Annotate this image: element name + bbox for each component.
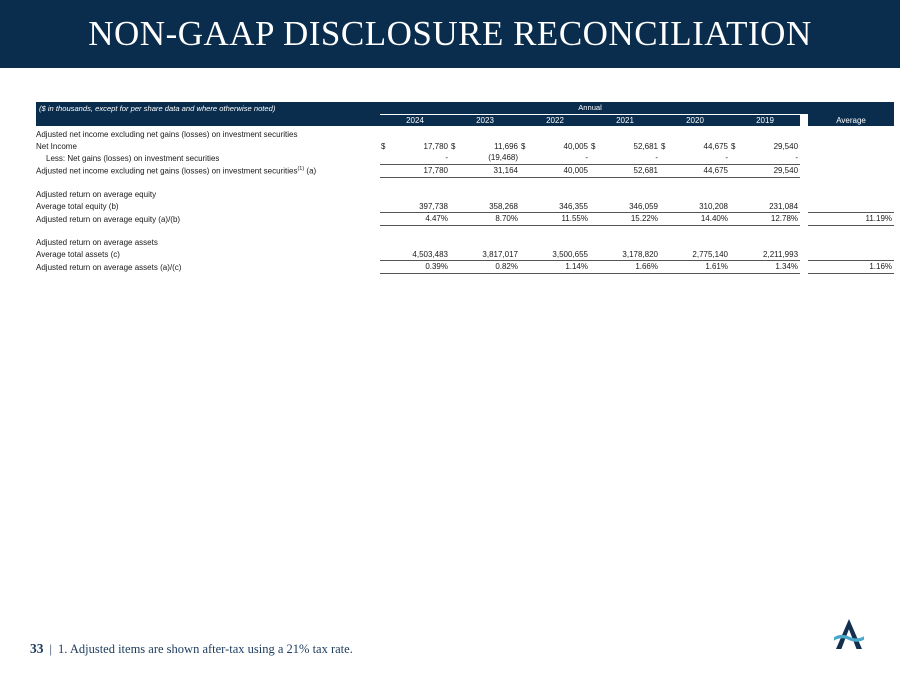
average-total-assets-2023: 3,817,017 xyxy=(462,249,520,261)
less-net-gains-2020: - xyxy=(672,152,730,164)
adjusted-net-income-2021: 52,681 xyxy=(602,164,660,177)
less-net-gains-2019: - xyxy=(742,152,800,164)
page-title: NON-GAAP DISCLOSURE RECONCILIATION xyxy=(0,14,900,54)
less-net-gains-2023: (19,468) xyxy=(462,152,520,164)
section-title-adjusted-roa: Adjusted return on average assets xyxy=(36,237,380,249)
table-row: Adjusted return on average assets (a)/(c… xyxy=(36,261,894,274)
row-label-text: Adjusted net income excluding net gains … xyxy=(36,167,297,176)
adjusted-roe-2023: 8.70% xyxy=(462,213,520,226)
cell-spacer xyxy=(520,152,532,164)
cell-spacer xyxy=(590,152,602,164)
adjusted-roa-2021: 1.66% xyxy=(602,261,660,274)
currency-symbol-2023: $ xyxy=(450,141,462,153)
section-spacer xyxy=(36,177,894,189)
cell-spacer xyxy=(380,213,392,226)
adjusted-roe-2022: 11.55% xyxy=(532,213,590,226)
row-gap xyxy=(800,261,808,274)
column-header-2023: 2023 xyxy=(450,114,520,126)
cell-spacer xyxy=(730,213,742,226)
less-net-gains-2024: - xyxy=(392,152,450,164)
row-label-average-total-equity: Average total equity (b) xyxy=(36,201,380,213)
footer-separator: | xyxy=(50,642,53,657)
adjusted-net-income-2019: 29,540 xyxy=(742,164,800,177)
currency-symbol-2024: $ xyxy=(380,141,392,153)
cell-spacer xyxy=(380,164,392,177)
section-title-filler xyxy=(380,237,894,249)
average-total-assets-2021: 3,178,820 xyxy=(602,249,660,261)
average-total-equity-2019: 231,084 xyxy=(742,201,800,213)
cell-spacer xyxy=(520,261,532,274)
column-header-2024: 2024 xyxy=(380,114,450,126)
section-title-adjusted-roe: Adjusted return on average equity xyxy=(36,189,380,201)
section-title-adjusted-net-income: Adjusted net income excluding net gains … xyxy=(36,126,380,141)
section-title-row-net-income: Adjusted net income excluding net gains … xyxy=(36,126,894,141)
slide-footer: 33 | 1. Adjusted items are shown after-t… xyxy=(30,641,353,657)
row-gap xyxy=(800,164,808,177)
cell-spacer xyxy=(590,201,602,213)
table-caption-row: ($ in thousands, except for per share da… xyxy=(36,102,894,114)
cell-spacer xyxy=(660,201,672,213)
adjusted-roa-average: 1.16% xyxy=(808,261,894,274)
column-header-2019: 2019 xyxy=(730,114,800,126)
cell-spacer xyxy=(730,249,742,261)
logo-wave-shape xyxy=(834,635,864,642)
cell-spacer xyxy=(380,249,392,261)
adjusted-net-income-2024: 17,780 xyxy=(392,164,450,177)
table-row: Average total equity (b) 397,738 358,268… xyxy=(36,201,894,213)
row-label-average-total-assets: Average total assets (c) xyxy=(36,249,380,261)
average-total-equity-2023: 358,268 xyxy=(462,201,520,213)
row-gap xyxy=(800,201,808,213)
annual-span-header: Annual xyxy=(380,102,800,114)
less-net-gains-2021: - xyxy=(602,152,660,164)
average-total-equity-2020: 310,208 xyxy=(672,201,730,213)
row-gap xyxy=(800,141,808,153)
cell-spacer xyxy=(380,201,392,213)
cell-spacer xyxy=(520,201,532,213)
row-gap xyxy=(800,152,808,164)
table-year-header-row: 2024 2023 2022 2021 2020 2019 Average xyxy=(36,114,894,126)
column-header-2020: 2020 xyxy=(660,114,730,126)
cell-spacer xyxy=(660,213,672,226)
cell-spacer xyxy=(730,152,742,164)
currency-symbol-2019: $ xyxy=(730,141,742,153)
adjusted-roa-2020: 1.61% xyxy=(672,261,730,274)
cell-spacer xyxy=(380,152,392,164)
cell-spacer xyxy=(590,249,602,261)
section-title-row-roe: Adjusted return on average equity xyxy=(36,189,894,201)
net-income-2024: 17,780 xyxy=(392,141,450,153)
cell-spacer xyxy=(660,261,672,274)
less-net-gains-2022: - xyxy=(532,152,590,164)
year-row-label-spacer xyxy=(36,114,380,126)
net-income-2019: 29,540 xyxy=(742,141,800,153)
cell-spacer xyxy=(660,249,672,261)
year-header-gap xyxy=(800,114,808,126)
financial-table-container: ($ in thousands, except for per share da… xyxy=(36,102,864,274)
average-total-equity-2022: 346,355 xyxy=(532,201,590,213)
spacer-cell xyxy=(36,177,894,189)
average-total-assets-average xyxy=(808,249,894,261)
currency-symbol-2021: $ xyxy=(590,141,602,153)
adjusted-roe-2024: 4.47% xyxy=(392,213,450,226)
row-label-adjusted-roa: Adjusted return on average assets (a)/(c… xyxy=(36,261,380,274)
net-income-2020: 44,675 xyxy=(672,141,730,153)
column-header-2021: 2021 xyxy=(590,114,660,126)
adjusted-roe-2019: 12.78% xyxy=(742,213,800,226)
cell-spacer xyxy=(660,152,672,164)
currency-symbol-2020: $ xyxy=(660,141,672,153)
column-header-2022: 2022 xyxy=(520,114,590,126)
letter-a-logo-icon xyxy=(826,615,872,655)
table-row: Average total assets (c) 4,503,483 3,817… xyxy=(36,249,894,261)
cell-spacer xyxy=(520,249,532,261)
adjusted-roe-2020: 14.40% xyxy=(672,213,730,226)
cell-spacer xyxy=(590,213,602,226)
less-net-gains-average xyxy=(808,152,894,164)
row-label-less-net-gains: Less: Net gains (losses) on investment s… xyxy=(36,152,380,164)
adjusted-net-income-average xyxy=(808,164,894,177)
adjusted-net-income-2022: 40,005 xyxy=(532,164,590,177)
spacer-cell xyxy=(36,225,894,237)
cell-spacer xyxy=(450,261,462,274)
section-spacer xyxy=(36,225,894,237)
average-total-equity-2024: 397,738 xyxy=(392,201,450,213)
logo-letter-a-shape xyxy=(836,619,862,649)
currency-symbol-2022: $ xyxy=(520,141,532,153)
cell-spacer xyxy=(730,261,742,274)
cell-spacer xyxy=(660,164,672,177)
cell-spacer xyxy=(730,164,742,177)
section-title-filler xyxy=(380,126,894,141)
cell-spacer xyxy=(520,164,532,177)
row-label-net-income: Net Income xyxy=(36,141,380,153)
adjusted-roe-average: 11.19% xyxy=(808,213,894,226)
row-label-adjusted-roe: Adjusted return on average equity (a)/(b… xyxy=(36,213,380,226)
cell-spacer xyxy=(450,213,462,226)
section-title-row-roa: Adjusted return on average assets xyxy=(36,237,894,249)
net-income-2022: 40,005 xyxy=(532,141,590,153)
average-total-assets-2022: 3,500,655 xyxy=(532,249,590,261)
header-gap xyxy=(800,102,808,114)
net-income-2021: 52,681 xyxy=(602,141,660,153)
adjusted-roa-2019: 1.34% xyxy=(742,261,800,274)
average-total-equity-2021: 346,059 xyxy=(602,201,660,213)
average-total-assets-2020: 2,775,140 xyxy=(672,249,730,261)
row-gap xyxy=(800,249,808,261)
cell-spacer xyxy=(590,261,602,274)
net-income-average xyxy=(808,141,894,153)
adjusted-roa-2022: 1.14% xyxy=(532,261,590,274)
row-label-ref: (a) xyxy=(304,167,316,176)
cell-spacer xyxy=(730,201,742,213)
row-label-adjusted-net-income: Adjusted net income excluding net gains … xyxy=(36,164,380,177)
company-logo xyxy=(826,615,872,655)
adjusted-roa-2024: 0.39% xyxy=(392,261,450,274)
page-number: 33 xyxy=(30,641,44,657)
adjusted-roe-2021: 15.22% xyxy=(602,213,660,226)
cell-spacer xyxy=(380,261,392,274)
adjusted-net-income-2023: 31,164 xyxy=(462,164,520,177)
adjusted-net-income-2020: 44,675 xyxy=(672,164,730,177)
average-total-equity-average xyxy=(808,201,894,213)
cell-spacer xyxy=(450,249,462,261)
column-header-average: Average xyxy=(808,114,894,126)
footnote-text: 1. Adjusted items are shown after-tax us… xyxy=(58,642,353,657)
cell-spacer xyxy=(520,213,532,226)
table-row: Less: Net gains (losses) on investment s… xyxy=(36,152,894,164)
average-total-assets-2024: 4,503,483 xyxy=(392,249,450,261)
row-gap xyxy=(800,213,808,226)
cell-spacer xyxy=(450,164,462,177)
average-total-assets-2019: 2,211,993 xyxy=(742,249,800,261)
average-header-top xyxy=(808,102,894,114)
adjusted-roa-2023: 0.82% xyxy=(462,261,520,274)
cell-spacer xyxy=(450,152,462,164)
table-row: Adjusted return on average equity (a)/(b… xyxy=(36,213,894,226)
net-income-2023: 11,696 xyxy=(462,141,520,153)
cell-spacer xyxy=(590,164,602,177)
cell-spacer xyxy=(450,201,462,213)
section-title-filler xyxy=(380,189,894,201)
units-caption: ($ in thousands, except for per share da… xyxy=(36,102,380,114)
table-row: Adjusted net income excluding net gains … xyxy=(36,164,894,177)
slide-title-band: NON-GAAP DISCLOSURE RECONCILIATION xyxy=(0,0,900,68)
table-row: Net Income $ 17,780 $ 11,696 $ 40,005 $ … xyxy=(36,141,894,153)
non-gaap-reconciliation-table: ($ in thousands, except for per share da… xyxy=(36,102,894,274)
